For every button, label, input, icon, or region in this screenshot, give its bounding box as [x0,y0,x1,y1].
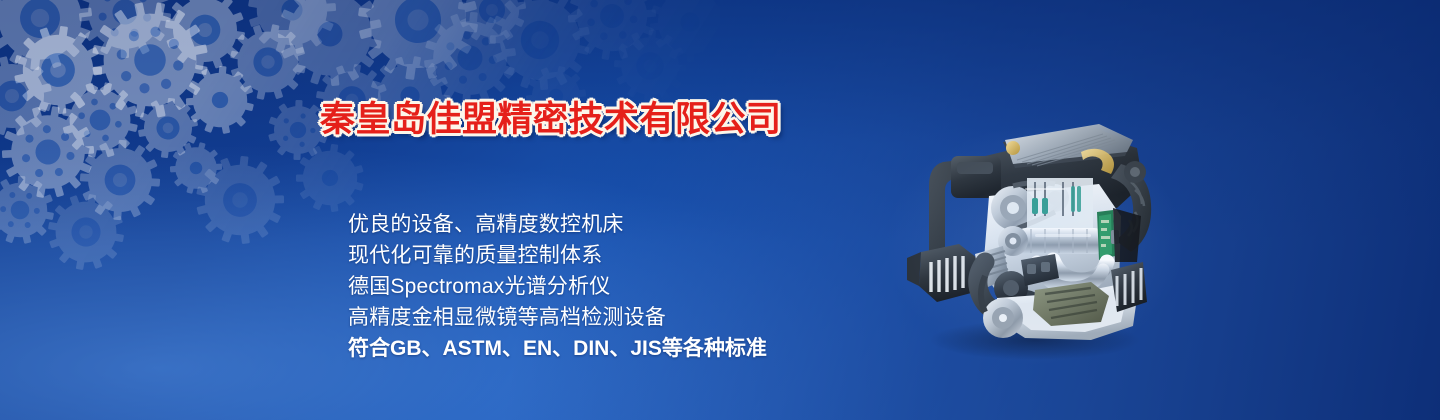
engine-cutaway-photo [885,112,1185,364]
list-item: 高精度金相显微镜等高档检测设备 [348,302,767,333]
page-title: 秦皇岛佳盟精密技术有限公司 [320,100,782,140]
feature-list: 优良的设备、高精度数控机床 现代化可靠的质量控制体系 德国Spectromax光… [348,209,767,364]
company-banner: 秦皇岛佳盟精密技术有限公司 优良的设备、高精度数控机床 现代化可靠的质量控制体系… [0,0,1440,420]
list-item: 符合GB、ASTM、EN、DIN、JIS等各种标准 [348,333,767,364]
list-item: 现代化可靠的质量控制体系 [348,240,767,271]
list-item: 优良的设备、高精度数控机床 [348,209,767,240]
list-item: 德国Spectromax光谱分析仪 [348,271,767,302]
